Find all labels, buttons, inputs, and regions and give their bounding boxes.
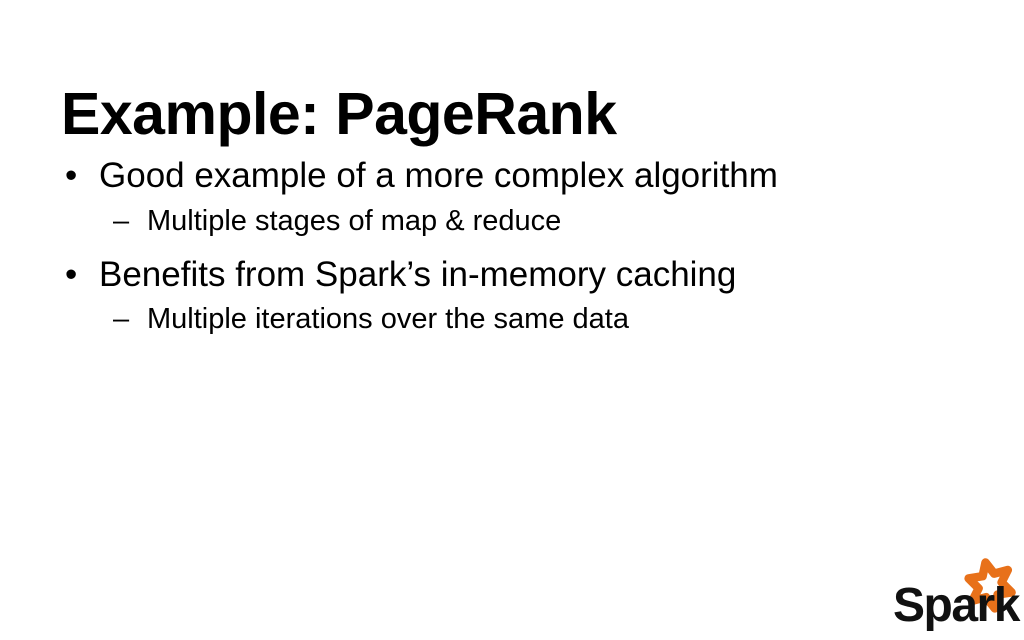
- bullet-dash-icon: –: [113, 302, 129, 338]
- page-title: Example: PageRank: [61, 84, 617, 146]
- list-item: • Benefits from Spark’s in-memory cachin…: [61, 254, 981, 297]
- list-item-label: Multiple stages of map & reduce: [147, 205, 561, 237]
- list-item: – Multiple stages of map & reduce: [61, 204, 981, 240]
- list-item-label: Good example of a more complex algorithm: [99, 156, 778, 195]
- list-item: • Good example of a more complex algorit…: [61, 155, 839, 198]
- bullet-dash-icon: –: [113, 204, 129, 240]
- bullet-dot-icon: •: [65, 254, 77, 297]
- bullet-dot-icon: •: [65, 155, 77, 198]
- svg-text:Spark: Spark: [893, 579, 1021, 632]
- slide-canvas: Example: PageRank • Good example of a mo…: [0, 0, 1024, 640]
- list-item-label: Multiple iterations over the same data: [147, 303, 629, 335]
- spark-wordmark: Spark: [893, 579, 1021, 632]
- bullet-list: • Good example of a more complex algorit…: [61, 155, 981, 342]
- list-spacer: [61, 244, 981, 254]
- spark-logo: Spark: [893, 552, 1024, 634]
- list-item-label: Benefits from Spark’s in-memory caching: [99, 255, 736, 294]
- list-item: – Multiple iterations over the same data: [61, 302, 981, 338]
